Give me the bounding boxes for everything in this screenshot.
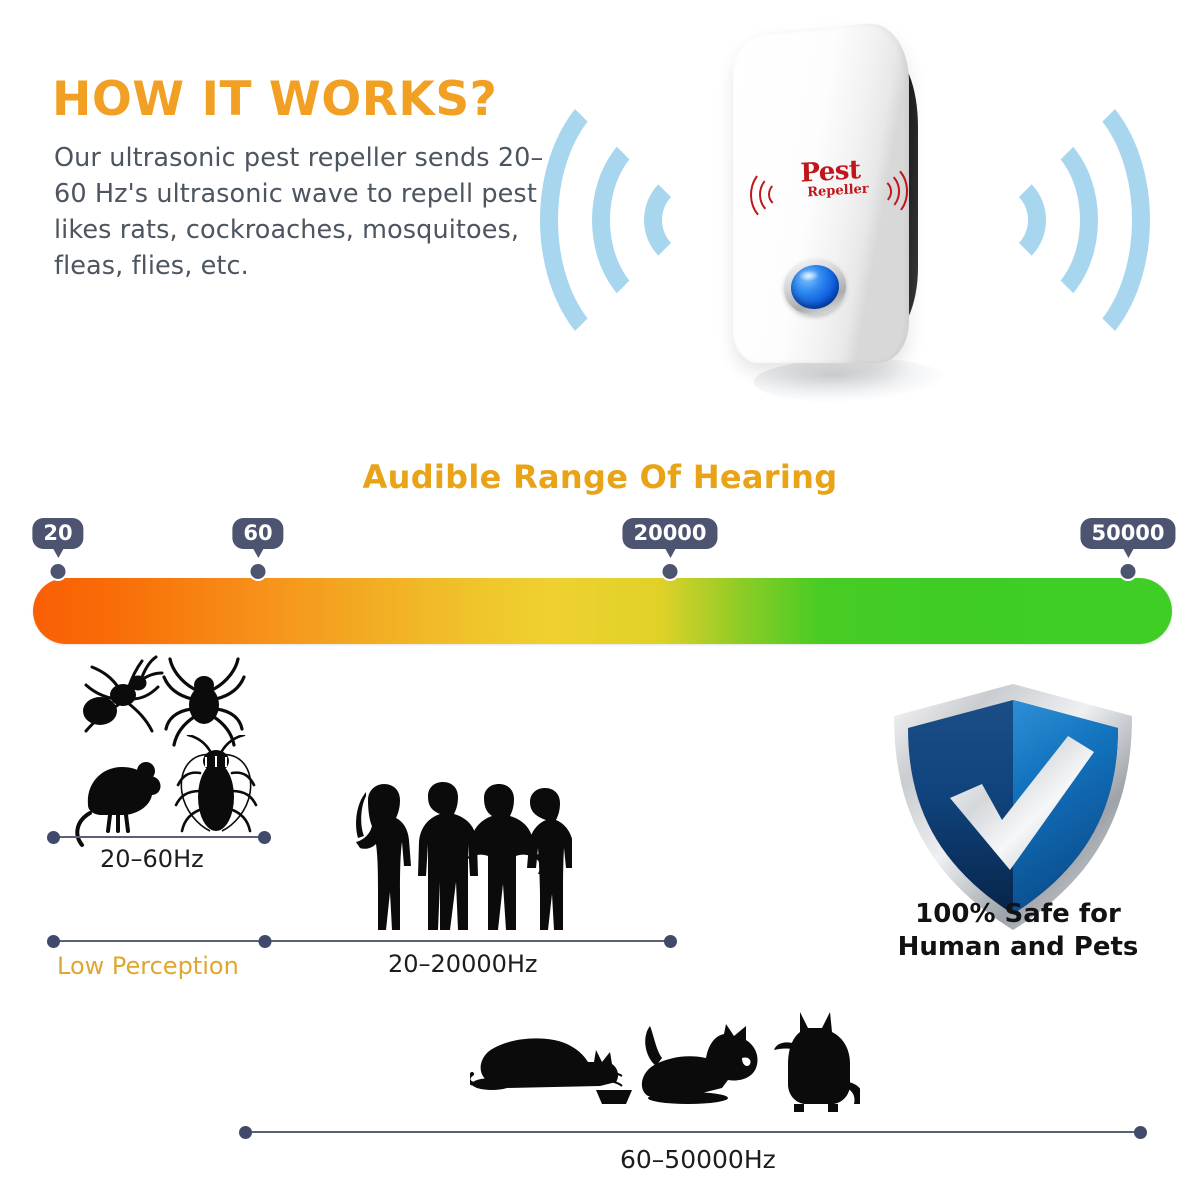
person-woman-icon: [356, 784, 411, 930]
led-indicator-icon: [791, 264, 839, 310]
pet-range-label: 60–50000Hz: [620, 1145, 776, 1174]
human-range-dot-mid: [259, 935, 272, 948]
freq-tick-60-label: 60: [232, 518, 283, 549]
freq-tick-20-label: 20: [32, 518, 83, 549]
human-range-label: 20–20000Hz: [388, 950, 538, 978]
freq-tick-60-knob: [249, 562, 268, 581]
logo-repeller-word: Repeller: [800, 182, 876, 201]
pet-range-dot-left: [239, 1126, 252, 1139]
pest-range-line: [53, 836, 265, 838]
wave-arc-inner-right: [950, 170, 1046, 270]
pet-icons-group: [470, 1010, 860, 1120]
logo-text-block: Pest Repeller: [785, 157, 876, 201]
safety-badge-text: 100% Safe for Human and Pets: [838, 898, 1198, 964]
pest-range-dot-right: [258, 831, 271, 844]
pest-repeller-logo: Pest Repeller: [753, 151, 905, 232]
mouse-icon: [77, 762, 160, 845]
freq-tick-20-knob: [49, 562, 68, 581]
safety-badge-line1: 100% Safe for: [838, 898, 1198, 931]
human-icons-group: [338, 782, 572, 934]
cockroach-icon: [176, 735, 256, 831]
spider-icon: [164, 659, 244, 745]
cat-sitting-icon: [774, 1012, 860, 1112]
person-woman-clipboard-icon: [512, 788, 572, 930]
low-perception-label: Low Perception: [57, 952, 239, 980]
pet-range-line: [245, 1131, 1141, 1133]
person-man-icon: [418, 782, 478, 930]
device-shadow: [745, 358, 953, 402]
freq-tick-20000-label: 20000: [622, 518, 717, 549]
freq-tick-50000-label: 50000: [1080, 518, 1175, 549]
human-range-dot-left: [47, 935, 60, 948]
pest-range-dot-left: [47, 831, 60, 844]
infographic-canvas: HOW IT WORKS? Our ultrasonic pest repell…: [0, 0, 1200, 1200]
human-range-line: [53, 940, 671, 942]
freq-tick-20000-knob: [661, 562, 680, 581]
audible-range-title: Audible Range Of Hearing: [0, 458, 1200, 496]
pet-range-dot-right: [1134, 1126, 1147, 1139]
ant-icon: [83, 657, 162, 731]
safety-badge-line2: Human and Pets: [838, 931, 1198, 964]
sound-waves-right: [940, 60, 1140, 380]
freq-tick-50000-knob: [1119, 562, 1138, 581]
dog-lying-icon: [642, 1024, 758, 1104]
cat-eating-icon: [470, 1038, 632, 1104]
frequency-gradient-bar: [33, 578, 1172, 644]
how-it-works-description: Our ultrasonic pest repeller sends 20–60…: [54, 140, 574, 284]
pest-repeller-device: Pest Repeller: [710, 28, 950, 398]
pest-range-label: 20–60Hz: [100, 845, 204, 873]
page-title: HOW IT WORKS?: [52, 72, 497, 127]
human-range-dot-right: [664, 935, 677, 948]
